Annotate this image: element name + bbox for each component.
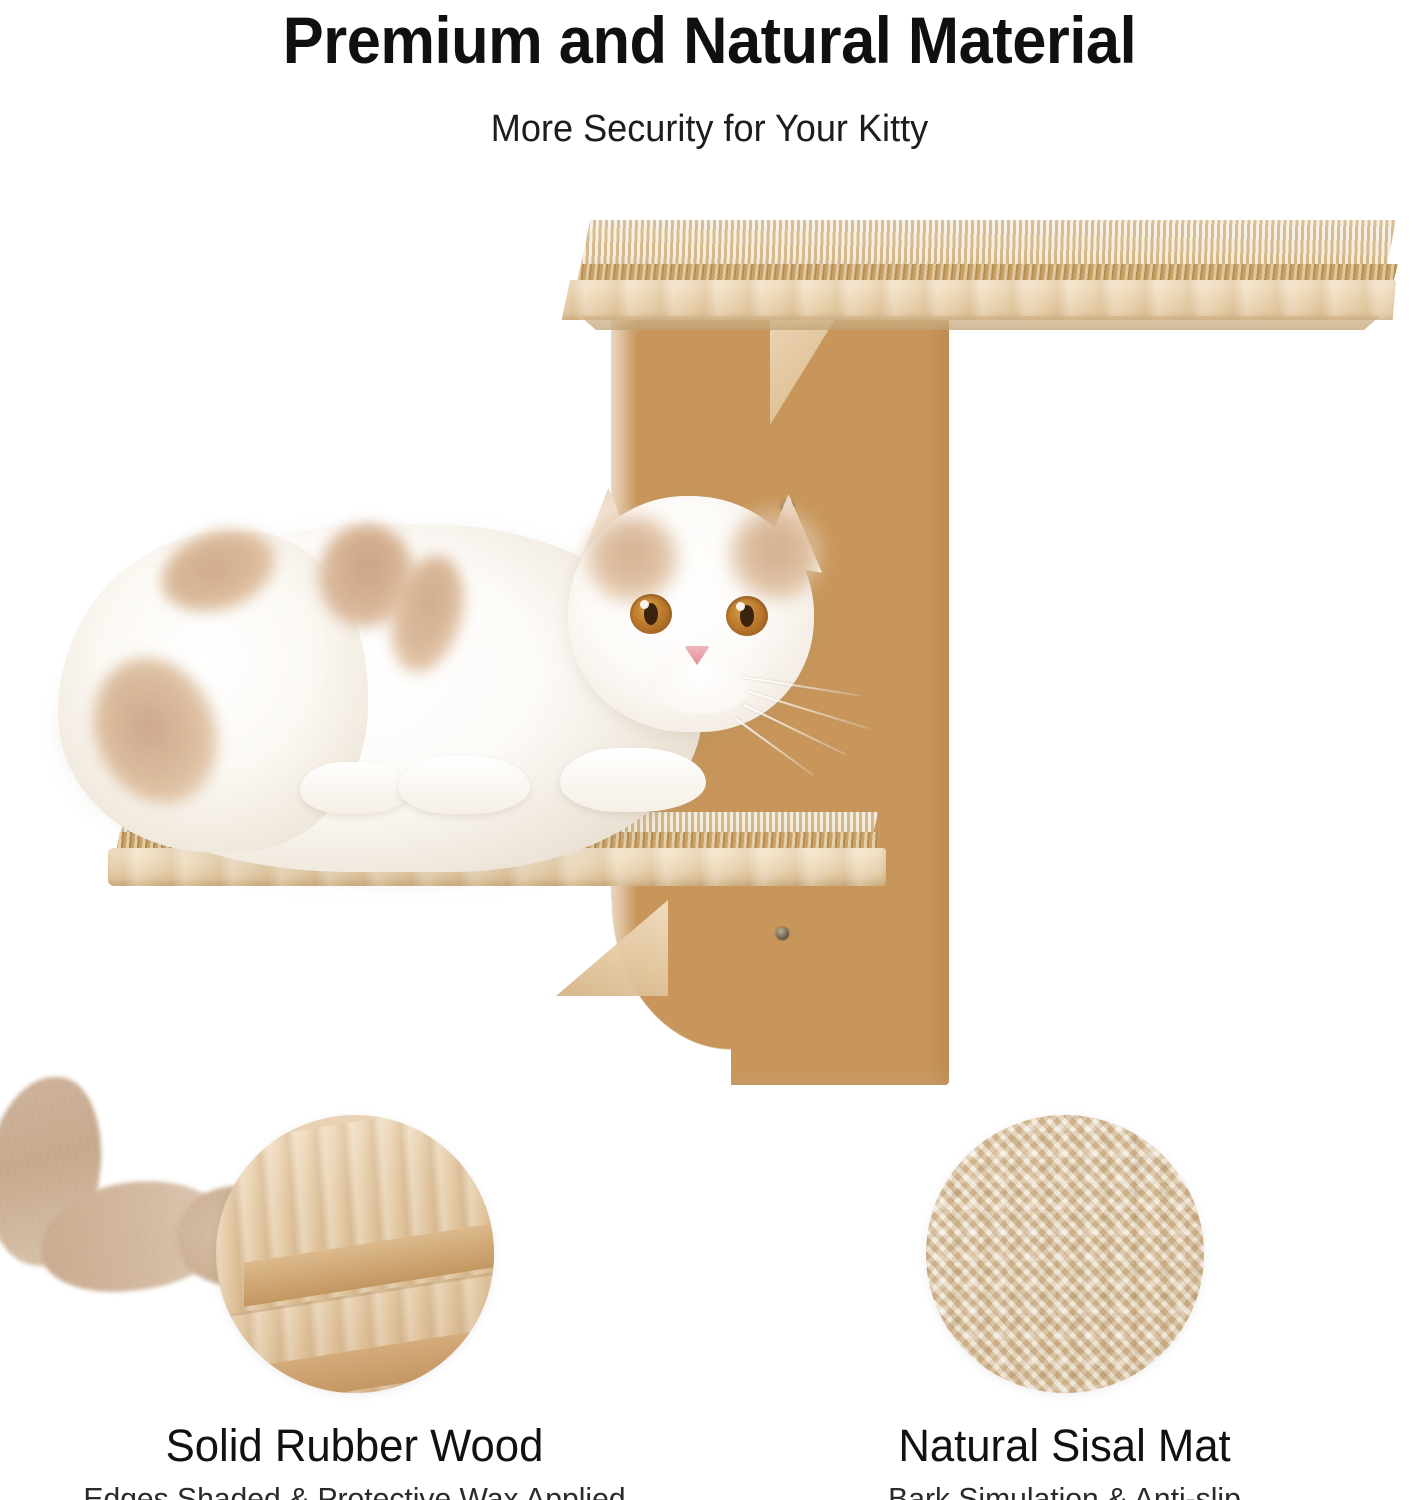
top-shelf-wood-grain: [560, 280, 1396, 320]
feature-solid-rubber-wood: Solid Rubber Wood Edges Shaded & Protect…: [0, 1115, 709, 1500]
cat-paw: [300, 762, 410, 814]
cat-muzzle: [648, 652, 752, 714]
top-shelf-underside: [580, 316, 1380, 330]
cat-whisker: [744, 704, 847, 756]
feature-section: Solid Rubber Wood Edges Shaded & Protect…: [0, 1115, 1419, 1500]
page-title: Premium and Natural Material: [50, 2, 1370, 78]
infographic-page: Premium and Natural Material More Securi…: [0, 0, 1419, 1500]
top-shelf: [556, 220, 1396, 350]
cat-head-patch: [586, 516, 678, 602]
wood-boards-icon: [216, 1115, 494, 1393]
sisal-weave-icon: [926, 1115, 1204, 1393]
feature-natural-sisal-mat: Natural Sisal Mat Bark Simulation & Anti…: [710, 1115, 1419, 1500]
mounting-screw-lower: [776, 927, 789, 940]
cat-illustration: [0, 480, 880, 900]
feature-subtitle: Bark Simulation & Anti-slip: [721, 1479, 1409, 1500]
page-subtitle: More Security for Your Kitty: [35, 105, 1383, 153]
feature-title: Solid Rubber Wood: [11, 1419, 699, 1473]
cat-paw: [560, 748, 706, 812]
feature-subtitle: Edges Shaded & Protective Wax Applied: [11, 1479, 699, 1500]
feature-title: Natural Sisal Mat: [721, 1419, 1409, 1473]
cat-eye-right: [726, 596, 768, 636]
cat-paw: [398, 756, 530, 814]
cat-whisker: [735, 718, 814, 776]
cat-head-patch: [730, 510, 822, 600]
cat-eye-left: [630, 594, 672, 634]
product-hero-image: [0, 200, 1419, 1100]
